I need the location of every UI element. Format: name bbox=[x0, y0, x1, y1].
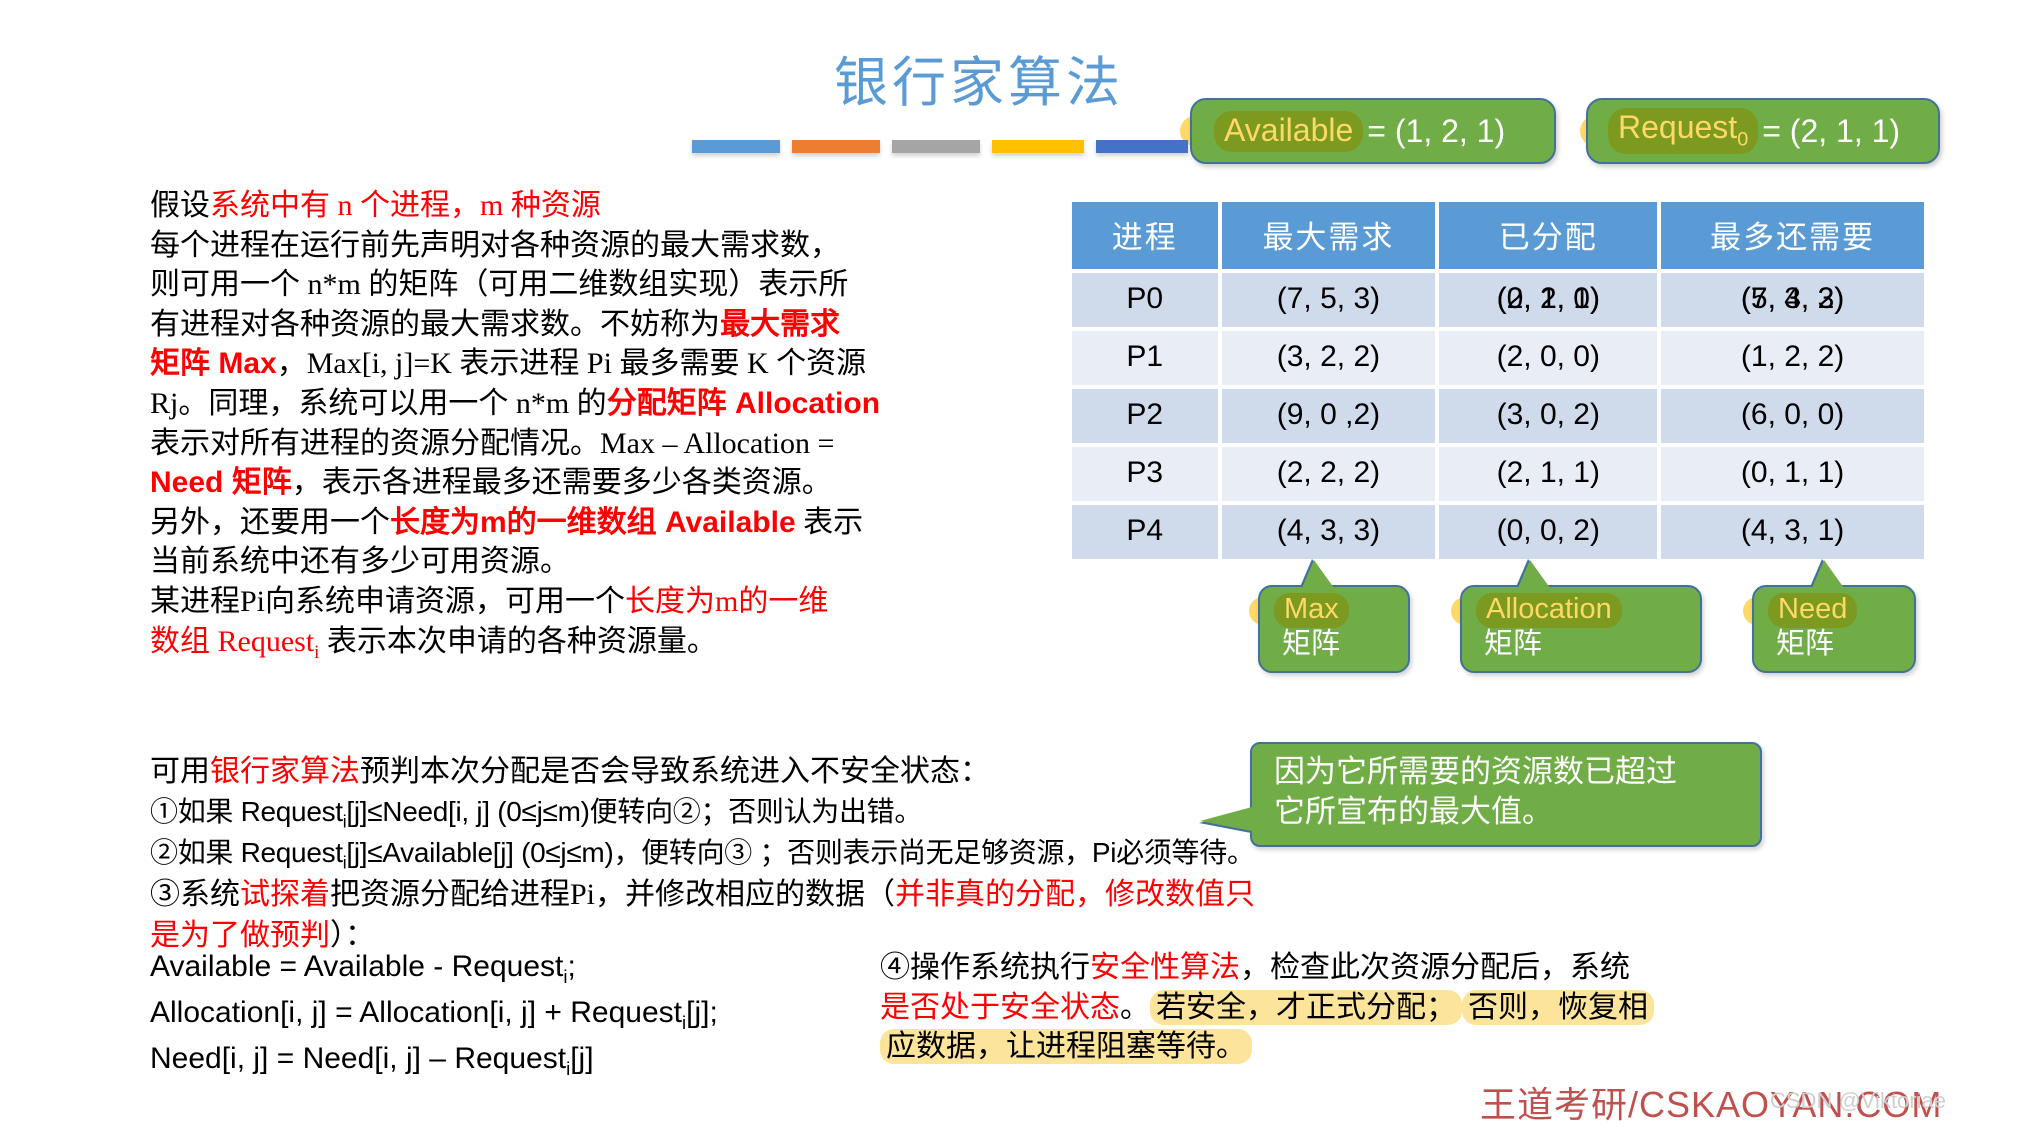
text-line-10: 当前系统中还有多少可用资源。 bbox=[150, 542, 1055, 582]
step4-line-1: ④操作系统执行安全性算法，检查此次资源分配后，系统 bbox=[880, 948, 1890, 988]
step4-highlight-2: 否则，恢复相 bbox=[1462, 990, 1654, 1025]
cell-process: P0 bbox=[1072, 273, 1218, 327]
cell-allocation: (3, 0, 2) bbox=[1439, 389, 1657, 443]
text-line-6: Rj。同理，系统可以用一个 n*m 的分配矩阵 Allocation bbox=[150, 384, 1055, 424]
cell-need: (7, 4, 3) (5, 3, 2) bbox=[1661, 273, 1924, 327]
decorative-bar-gray bbox=[892, 140, 980, 153]
callout-pointer-icon bbox=[1518, 560, 1550, 588]
text-line-2: 每个进程在运行前先声明对各种资源的最大需求数， bbox=[150, 226, 1055, 266]
step4-line-3: 应数据，让进程阻塞等待。 bbox=[880, 1027, 1890, 1067]
step-2: ②如果 Requesti[j]≤Available[j] (0≤j≤m)，便转向… bbox=[150, 834, 1280, 875]
cell-allocation: (0, 0, 2) bbox=[1439, 505, 1657, 559]
callout-pointer-icon bbox=[1200, 807, 1252, 831]
cell-need: (6, 0, 0) bbox=[1661, 389, 1924, 443]
allocation-matrix-callout: Allocation 矩阵 bbox=[1460, 585, 1702, 673]
cell-need: (4, 3, 1) bbox=[1661, 505, 1924, 559]
steps-intro: 可用银行家算法预判本次分配是否会导致系统进入不安全状态： bbox=[150, 752, 1280, 793]
cell-max: (4, 3, 3) bbox=[1222, 505, 1436, 559]
yellow-dot-decoration bbox=[1580, 116, 1610, 146]
slide-root: 银行家算法 Available = (1, 2, 1) Request0 = (… bbox=[0, 0, 2018, 1126]
allocation-old-value: (0, 1, 0) bbox=[1497, 282, 1600, 316]
cell-max: (2, 2, 2) bbox=[1222, 447, 1436, 501]
cell-process: P1 bbox=[1072, 331, 1218, 385]
column-header-process: 进程 bbox=[1072, 202, 1218, 269]
max-callout-label: Max bbox=[1274, 593, 1349, 628]
table-row: P2 (9, 0 ,2) (3, 0, 2) (6, 0, 0) bbox=[1072, 389, 1924, 443]
cell-max: (9, 0 ,2) bbox=[1222, 389, 1436, 443]
formula-need: Need[i, j] = Need[i, j] – Requesti[j] bbox=[150, 1037, 870, 1083]
decorative-bar-darkblue bbox=[1096, 140, 1188, 153]
text-line-9: 另外，还要用一个长度为m的一维数组 Available 表示 bbox=[150, 503, 1055, 543]
yellow-dot-decoration bbox=[1249, 597, 1277, 625]
available-value: = (1, 2, 1) bbox=[1367, 113, 1505, 150]
table-row: P1 (3, 2, 2) (2, 0, 0) (1, 2, 2) bbox=[1072, 331, 1924, 385]
available-banner: Available = (1, 2, 1) bbox=[1190, 98, 1556, 164]
column-header-need: 最多还需要 bbox=[1661, 202, 1924, 269]
text-line-3: 则可用一个 n*m 的矩阵（可用二维数组实现）表示所 bbox=[150, 265, 1055, 305]
step4-line-2: 是否处于安全状态。若安全，才正式分配；否则，恢复相 bbox=[880, 988, 1890, 1028]
formula-block: Available = Available - Requesti; Alloca… bbox=[150, 945, 870, 1083]
text-line-7: 表示对所有进程的资源分配情况。Max – Allocation = bbox=[150, 424, 1055, 464]
request-array-label: 数组 Requesti bbox=[150, 625, 319, 658]
cell-need: (0, 1, 1) bbox=[1661, 447, 1924, 501]
available-label: Available bbox=[1214, 111, 1363, 152]
need-callout-sublabel: 矩阵 bbox=[1768, 628, 1900, 661]
max-matrix-callout: Max 矩阵 bbox=[1258, 585, 1410, 673]
reason-line-2: 它所宣布的最大值。 bbox=[1274, 792, 1744, 832]
need-matrix-callout: Need 矩阵 bbox=[1752, 585, 1916, 673]
cell-allocation: (2, 1, 1) bbox=[1439, 447, 1657, 501]
cell-allocation: (2, 0, 0) bbox=[1439, 331, 1657, 385]
text-line-12: 数组 Requesti 表示本次申请的各种资源量。 bbox=[150, 622, 1055, 666]
column-header-max: 最大需求 bbox=[1222, 202, 1436, 269]
request-label: Request0 bbox=[1608, 108, 1758, 154]
decorative-bar-blue bbox=[692, 140, 780, 153]
request-banner: Request0 = (2, 1, 1) bbox=[1586, 98, 1940, 164]
definition-paragraph: 假设系统中有 n 个进程，m 种资源 每个进程在运行前先声明对各种资源的最大需求… bbox=[150, 186, 1055, 665]
resource-allocation-table: 进程 最大需求 已分配 最多还需要 P0 (7, 5, 3) (0, 1, 0)… bbox=[1068, 198, 1928, 563]
text-line-8: Need 矩阵，表示各进程最多还需要多少各类资源。 bbox=[150, 463, 1055, 503]
step4-highlight-3: 应数据，让进程阻塞等待。 bbox=[880, 1029, 1252, 1064]
cell-max: (3, 2, 2) bbox=[1222, 331, 1436, 385]
table-row: P0 (7, 5, 3) (0, 1, 0) (2, 2, 1) (7, 4, … bbox=[1072, 273, 1924, 327]
cell-process: P4 bbox=[1072, 505, 1218, 559]
yellow-dot-decoration bbox=[1451, 597, 1479, 625]
formula-available: Available = Available - Requesti; bbox=[150, 945, 870, 991]
decorative-bar-orange bbox=[792, 140, 880, 153]
text-line-11: 某进程Pi向系统申请资源，可用一个长度为m的一维 bbox=[150, 582, 1055, 622]
cell-process: P2 bbox=[1072, 389, 1218, 443]
cell-max: (7, 5, 3) bbox=[1222, 273, 1436, 327]
need-callout-label: Need bbox=[1768, 593, 1857, 628]
allocation-dual-value: (0, 1, 0) (2, 2, 1) bbox=[1497, 282, 1600, 316]
watermark-text: CSDN @Viktoriae bbox=[1770, 1088, 1946, 1114]
cell-process: P3 bbox=[1072, 447, 1218, 501]
table-row: P3 (2, 2, 2) (2, 1, 1) (0, 1, 1) bbox=[1072, 447, 1924, 501]
allocation-callout-sublabel: 矩阵 bbox=[1476, 628, 1686, 661]
cell-need: (1, 2, 2) bbox=[1661, 331, 1924, 385]
max-callout-sublabel: 矩阵 bbox=[1274, 628, 1394, 661]
request-value: = (2, 1, 1) bbox=[1762, 113, 1900, 150]
table-row: P4 (4, 3, 3) (0, 0, 2) (4, 3, 1) bbox=[1072, 505, 1924, 559]
reason-line-1: 因为它所需要的资源数已超过 bbox=[1274, 752, 1744, 792]
callout-pointer-icon bbox=[1302, 560, 1334, 588]
text-line-5: 矩阵 Max，Max[i, j]=K 表示进程 Pi 最多需要 K 个资源 bbox=[150, 344, 1055, 384]
allocation-callout-label: Allocation bbox=[1476, 593, 1622, 628]
cell-allocation: (0, 1, 0) (2, 2, 1) bbox=[1439, 273, 1657, 327]
column-header-allocation: 已分配 bbox=[1439, 202, 1657, 269]
decorative-bar-group bbox=[692, 140, 1212, 156]
need-dual-value: (7, 4, 3) (5, 3, 2) bbox=[1741, 282, 1844, 316]
text-line-1: 假设系统中有 n 个进程，m 种资源 bbox=[150, 186, 1055, 226]
decorative-bar-yellow bbox=[992, 140, 1084, 153]
callout-pointer-icon bbox=[1812, 560, 1844, 588]
need-old-value: (7, 4, 3) bbox=[1741, 282, 1844, 316]
step4-highlight-1: 若安全，才正式分配； bbox=[1150, 990, 1462, 1025]
formula-allocation: Allocation[i, j] = Allocation[i, j] + Re… bbox=[150, 991, 870, 1037]
reason-callout: 因为它所需要的资源数已超过 它所宣布的最大值。 bbox=[1250, 742, 1762, 847]
table-header-row: 进程 最大需求 已分配 最多还需要 bbox=[1072, 202, 1924, 269]
step-4: ④操作系统执行安全性算法，检查此次资源分配后，系统 是否处于安全状态。若安全，才… bbox=[880, 948, 1890, 1067]
step-1: ①如果 Requesti[j]≤Need[i, j] (0≤j≤m)便转向②；否… bbox=[150, 793, 1280, 834]
yellow-dot-decoration bbox=[1743, 597, 1771, 625]
text-line-4: 有进程对各种资源的最大需求数。不妨称为最大需求 bbox=[150, 305, 1055, 345]
algorithm-steps: 可用银行家算法预判本次分配是否会导致系统进入不安全状态： ①如果 Request… bbox=[150, 752, 1280, 957]
